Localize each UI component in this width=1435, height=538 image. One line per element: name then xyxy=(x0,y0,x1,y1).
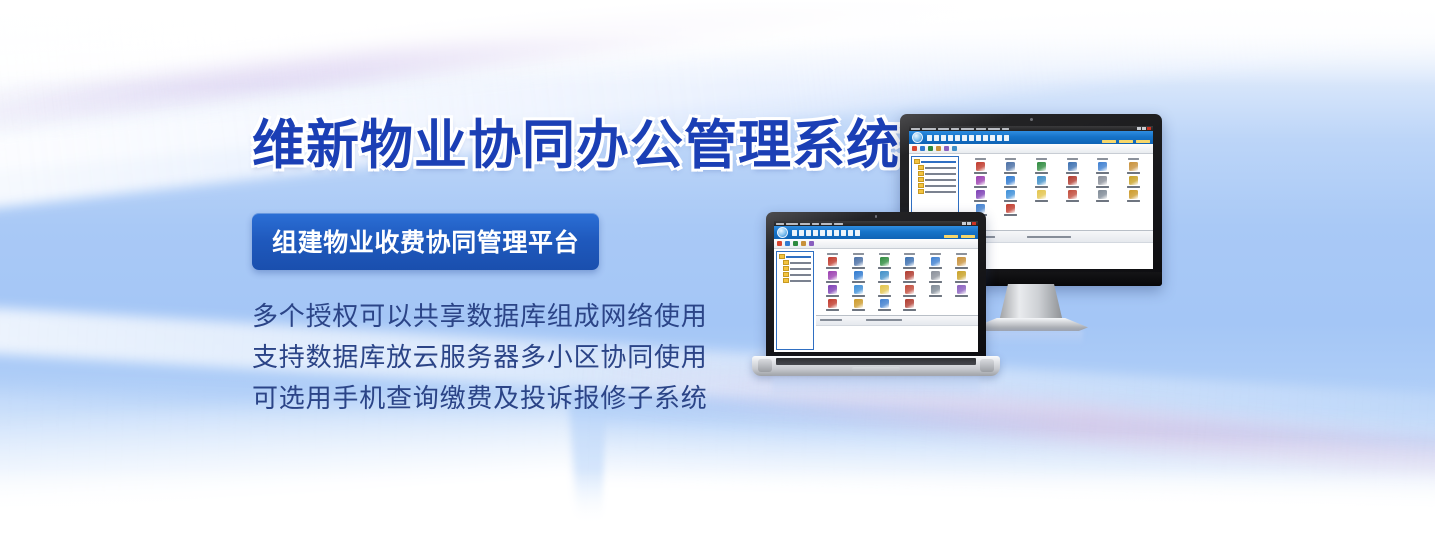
module-icon-2[interactable] xyxy=(997,162,1026,174)
module-icon-label xyxy=(1035,200,1048,202)
module-icon-label xyxy=(1127,200,1140,202)
module-icon-14[interactable] xyxy=(997,190,1026,202)
module-glyph-icon xyxy=(1006,204,1015,213)
module-icon-12[interactable] xyxy=(1119,176,1148,188)
module-icon-label xyxy=(826,267,839,269)
module-icon-20[interactable] xyxy=(997,204,1026,216)
module-icon-label xyxy=(1096,200,1109,202)
module-icon-label xyxy=(929,281,942,283)
tree-node xyxy=(914,171,956,176)
tree-node xyxy=(914,177,956,182)
module-glyph-icon xyxy=(1037,176,1046,185)
module-icon-16[interactable] xyxy=(1058,190,1087,202)
tree-node xyxy=(914,165,956,170)
app-toolbar[interactable] xyxy=(909,144,1153,154)
module-icon-4[interactable] xyxy=(898,257,922,269)
module-glyph-icon xyxy=(905,299,914,308)
module-icon-label xyxy=(1004,186,1017,188)
webcam-icon xyxy=(875,215,878,218)
module-icon-11[interactable] xyxy=(1089,176,1118,188)
module-icon-label xyxy=(878,281,891,283)
tree-node xyxy=(914,189,956,194)
module-group-label xyxy=(949,253,973,255)
module-glyph-icon xyxy=(1098,190,1107,199)
product-banner: 维新物业协同办公管理系统 组建物业收费协同管理平台 多个授权可以共享数据库组成网… xyxy=(0,0,1435,538)
module-icon-label xyxy=(974,186,987,188)
module-glyph-icon xyxy=(1098,176,1107,185)
module-icon-label xyxy=(929,295,942,297)
toolbar-icon-print xyxy=(801,241,806,246)
laptop-lid xyxy=(766,212,986,360)
module-glyph-icon xyxy=(1068,190,1077,199)
module-icon-label xyxy=(852,295,865,297)
toolbar-icon-print xyxy=(936,146,941,151)
module-group-label xyxy=(821,253,845,255)
module-group-label xyxy=(898,253,922,255)
module-icon-7[interactable] xyxy=(966,176,995,188)
module-icon-22[interactable] xyxy=(898,299,922,311)
module-glyph-icon xyxy=(905,285,914,294)
laptop-screen xyxy=(774,221,978,352)
module-icon-label xyxy=(826,281,839,283)
laptop-keyboard[interactable] xyxy=(776,358,976,365)
module-icon-label xyxy=(1066,186,1079,188)
module-icon-label xyxy=(974,200,987,202)
module-glyph-icon xyxy=(1006,162,1015,171)
maximize-icon xyxy=(1142,127,1146,130)
toolbar-icon-open xyxy=(785,241,790,246)
close-icon xyxy=(1147,127,1151,130)
module-icon-2[interactable] xyxy=(847,257,871,269)
window-controls[interactable] xyxy=(1137,127,1151,130)
module-glyph-icon xyxy=(828,299,837,308)
module-icon-label xyxy=(903,295,916,297)
module-glyph-icon xyxy=(976,190,985,199)
toolbar-icon-save xyxy=(928,146,933,151)
module-icon-17[interactable] xyxy=(924,285,948,297)
module-icon-label xyxy=(878,295,891,297)
module-icon-15[interactable] xyxy=(872,285,896,297)
module-icon-label xyxy=(878,309,891,311)
toolbar-icon-refresh xyxy=(952,146,957,151)
module-glyph-icon xyxy=(880,271,889,280)
tree-node xyxy=(779,260,811,265)
module-icon-grid[interactable] xyxy=(816,249,978,315)
device-mockups xyxy=(740,98,1190,518)
module-icon-label xyxy=(826,309,839,311)
module-icon-17[interactable] xyxy=(1089,190,1118,202)
toolbar-icon-new xyxy=(912,146,917,151)
app-toolbar[interactable] xyxy=(774,239,978,249)
module-icon-19[interactable] xyxy=(821,299,845,311)
laptop-foot-right xyxy=(980,359,994,372)
close-icon xyxy=(972,222,976,225)
toolbar-icon-find xyxy=(809,241,814,246)
tree-node xyxy=(779,272,811,277)
module-icon-7[interactable] xyxy=(821,271,845,283)
module-icon-16[interactable] xyxy=(898,285,922,297)
module-glyph-icon xyxy=(1006,176,1015,185)
toolbar-icon-find xyxy=(944,146,949,151)
module-glyph-icon xyxy=(854,271,863,280)
laptop-foot-left xyxy=(758,359,772,372)
module-group-label xyxy=(1058,158,1087,160)
app-status-bar xyxy=(816,315,978,325)
laptop xyxy=(752,212,1000,382)
module-glyph-icon xyxy=(931,271,940,280)
module-icon-label xyxy=(1096,172,1109,174)
module-icon-5[interactable] xyxy=(1089,162,1118,174)
module-group-label xyxy=(966,158,995,160)
module-glyph-icon xyxy=(880,257,889,266)
module-icon-label xyxy=(1035,172,1048,174)
module-glyph-icon xyxy=(1037,162,1046,171)
module-glyph-icon xyxy=(957,271,966,280)
module-icon-label xyxy=(826,295,839,297)
module-glyph-icon xyxy=(1068,162,1077,171)
module-glyph-icon xyxy=(828,257,837,266)
module-glyph-icon xyxy=(1068,176,1077,185)
module-icon-1[interactable] xyxy=(821,257,845,269)
app-body xyxy=(774,249,978,352)
module-glyph-icon xyxy=(854,285,863,294)
module-icon-4[interactable] xyxy=(1058,162,1087,174)
module-icon-label xyxy=(955,281,968,283)
module-icon-8[interactable] xyxy=(997,176,1026,188)
laptop-trackpad[interactable] xyxy=(852,367,900,371)
module-icon-13[interactable] xyxy=(966,190,995,202)
tree-node xyxy=(779,266,811,271)
webcam-icon xyxy=(1030,118,1033,121)
module-icon-label xyxy=(1004,214,1017,216)
tree-node xyxy=(779,254,811,259)
module-icon-10[interactable] xyxy=(898,271,922,283)
maximize-icon xyxy=(967,222,971,225)
module-group-label xyxy=(847,253,871,255)
module-glyph-icon xyxy=(880,299,889,308)
module-glyph-icon xyxy=(957,285,966,294)
module-glyph-icon xyxy=(854,299,863,308)
module-glyph-icon xyxy=(1037,190,1046,199)
module-icon-1[interactable] xyxy=(966,162,995,174)
monitor-stand-neck xyxy=(999,284,1063,322)
window-controls[interactable] xyxy=(962,222,976,225)
module-icon-label xyxy=(1066,172,1079,174)
module-icon-label xyxy=(1004,200,1017,202)
module-icon-21[interactable] xyxy=(872,299,896,311)
module-icon-15[interactable] xyxy=(1027,190,1056,202)
module-glyph-icon xyxy=(854,257,863,266)
module-icon-label xyxy=(929,267,942,269)
module-icon-label xyxy=(903,267,916,269)
module-glyph-icon xyxy=(880,285,889,294)
module-icon-label xyxy=(1004,172,1017,174)
module-glyph-icon xyxy=(931,257,940,266)
app-window-laptop xyxy=(774,221,978,352)
module-icon-18[interactable] xyxy=(1119,190,1148,202)
module-glyph-icon xyxy=(905,271,914,280)
header-status-links[interactable] xyxy=(1102,140,1150,143)
module-icon-label xyxy=(1035,186,1048,188)
app-main-panel xyxy=(816,249,978,352)
header-status-links[interactable] xyxy=(944,235,975,238)
top-fade xyxy=(0,0,1435,86)
module-icon-5[interactable] xyxy=(924,257,948,269)
minimize-icon xyxy=(962,222,966,225)
app-detail-pane xyxy=(816,325,978,352)
module-group-label xyxy=(924,253,948,255)
minimize-icon xyxy=(1137,127,1141,130)
module-icon-3[interactable] xyxy=(872,257,896,269)
module-icon-12[interactable] xyxy=(949,271,973,283)
app-header-menu[interactable] xyxy=(792,230,860,236)
module-icon-8[interactable] xyxy=(847,271,871,283)
toolbar-icon-save xyxy=(793,241,798,246)
module-icon-label xyxy=(852,309,865,311)
module-icon-13[interactable] xyxy=(821,285,845,297)
module-glyph-icon xyxy=(828,271,837,280)
module-icon-14[interactable] xyxy=(847,285,871,297)
module-icon-label xyxy=(1127,172,1140,174)
module-icon-label xyxy=(1127,186,1140,188)
module-glyph-icon xyxy=(1129,176,1138,185)
module-icon-3[interactable] xyxy=(1027,162,1056,174)
toolbar-icon-new xyxy=(777,241,782,246)
module-icon-label xyxy=(852,267,865,269)
module-group-label xyxy=(872,253,896,255)
module-icon-label xyxy=(955,267,968,269)
tree-node xyxy=(914,159,956,164)
module-glyph-icon xyxy=(905,257,914,266)
module-icon-10[interactable] xyxy=(1058,176,1087,188)
module-icon-label xyxy=(903,281,916,283)
module-icon-6[interactable] xyxy=(949,257,973,269)
module-icon-label xyxy=(1096,186,1109,188)
module-icon-label xyxy=(878,267,891,269)
app-logo-icon xyxy=(777,227,788,238)
module-icon-11[interactable] xyxy=(924,271,948,283)
module-glyph-icon xyxy=(931,285,940,294)
module-glyph-icon xyxy=(976,176,985,185)
module-group-label xyxy=(1089,158,1118,160)
navigation-tree[interactable] xyxy=(776,251,814,350)
module-icon-9[interactable] xyxy=(872,271,896,283)
module-icon-20[interactable] xyxy=(847,299,871,311)
module-glyph-icon xyxy=(1129,162,1138,171)
module-icon-6[interactable] xyxy=(1119,162,1148,174)
module-icon-label xyxy=(903,309,916,311)
module-icon-9[interactable] xyxy=(1027,176,1056,188)
module-glyph-icon xyxy=(1006,190,1015,199)
module-glyph-icon xyxy=(828,285,837,294)
module-glyph-icon xyxy=(976,162,985,171)
module-glyph-icon xyxy=(1129,190,1138,199)
laptop-reflection xyxy=(772,378,980,398)
module-icon-label xyxy=(955,295,968,297)
tagline-badge: 组建物业收费协同管理平台 xyxy=(252,213,599,270)
module-icon-label xyxy=(852,281,865,283)
module-glyph-icon xyxy=(1098,162,1107,171)
module-icon-label xyxy=(974,172,987,174)
app-logo-icon xyxy=(912,132,923,143)
module-icon-label xyxy=(1066,200,1079,202)
toolbar-icon-open xyxy=(920,146,925,151)
module-group-label xyxy=(997,158,1026,160)
app-header-menu[interactable] xyxy=(927,135,1009,141)
bottom-fade xyxy=(0,468,1435,538)
module-glyph-icon xyxy=(957,257,966,266)
module-group-label xyxy=(1119,158,1148,160)
tree-node xyxy=(914,183,956,188)
tree-node xyxy=(779,278,811,283)
module-icon-18[interactable] xyxy=(949,285,973,297)
module-group-label xyxy=(1027,158,1056,160)
